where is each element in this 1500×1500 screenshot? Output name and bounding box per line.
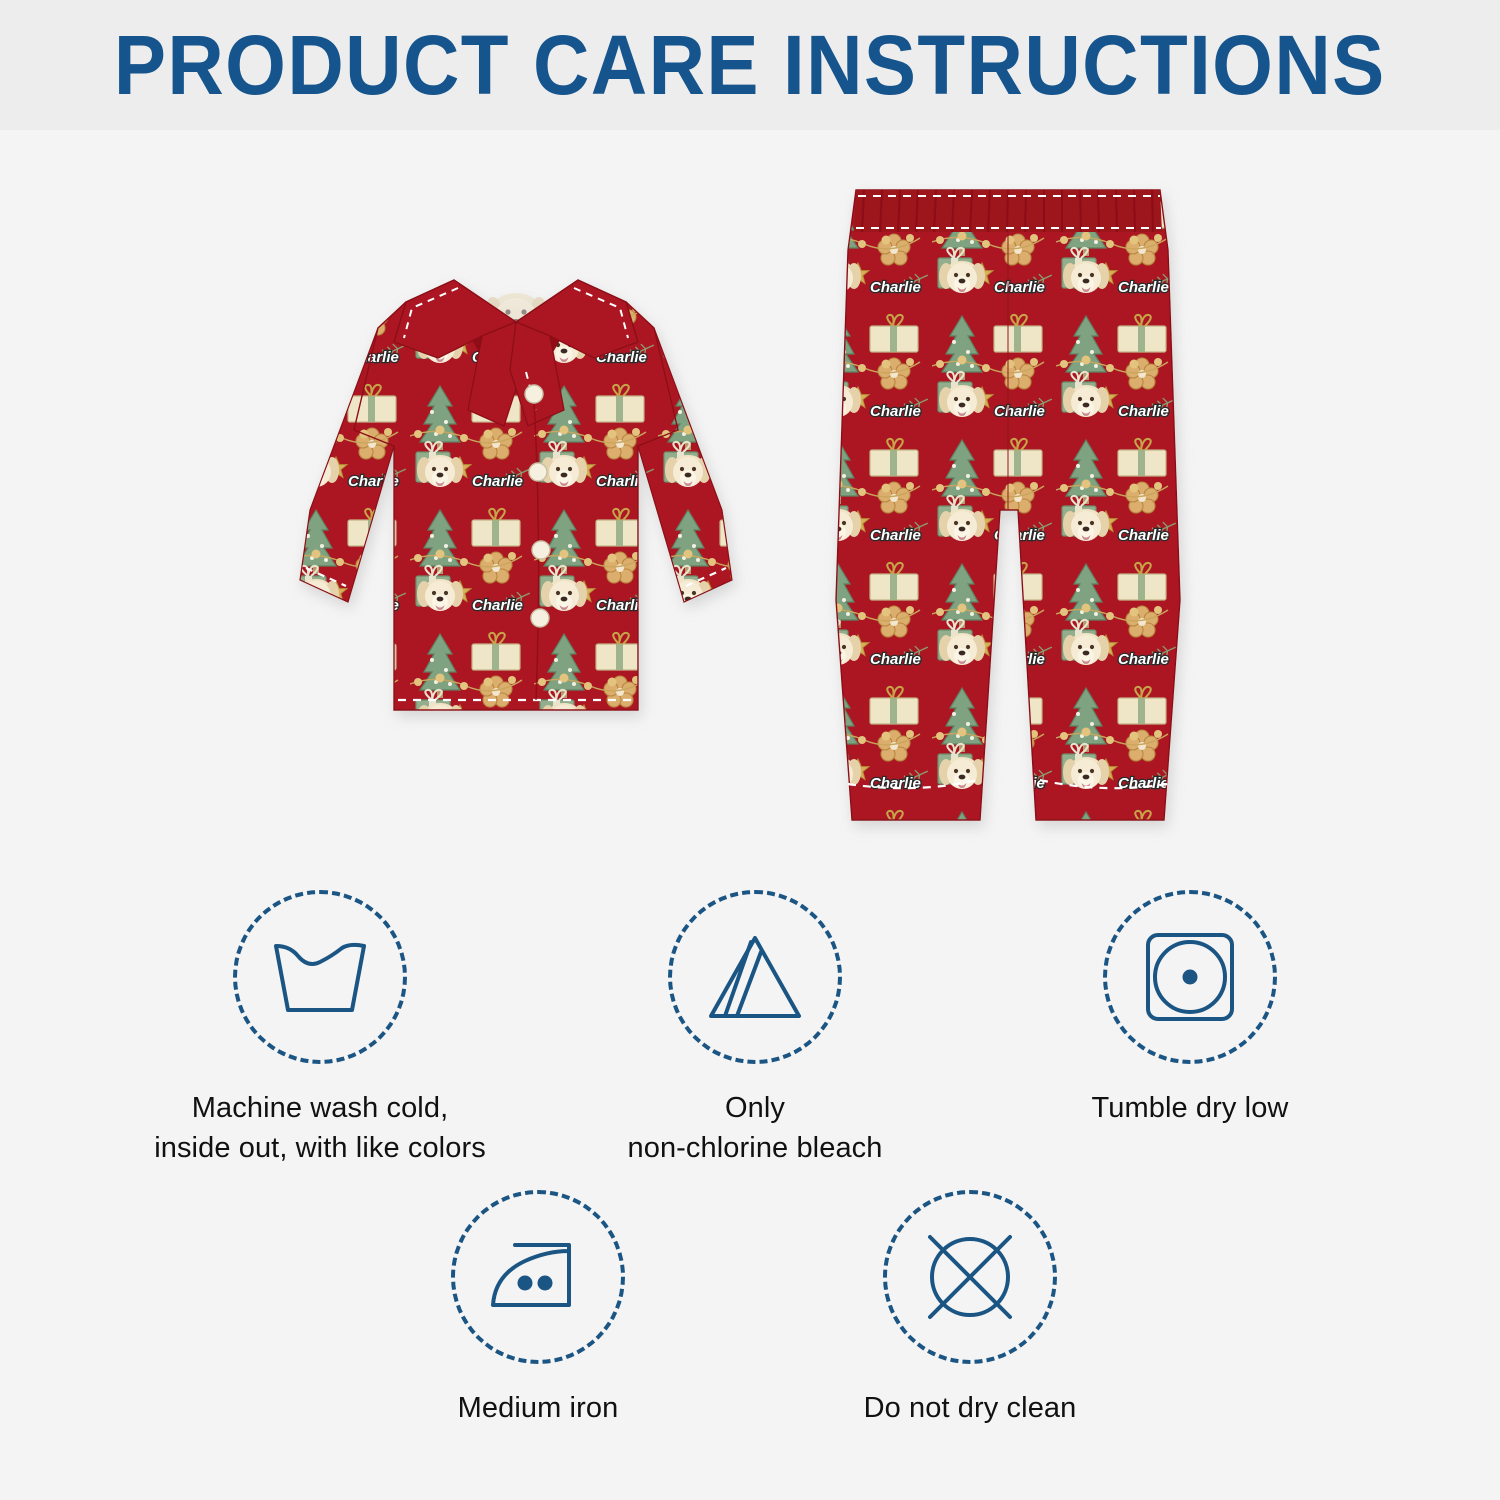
care-caption: Only non-chlorine bleach: [575, 1088, 935, 1168]
medium-iron-icon: [485, 1239, 591, 1315]
non-chlorine-bleach-circle: [668, 890, 842, 1064]
care-item-do-not-dry-clean: Do not dry clean: [790, 1190, 1150, 1428]
medium-iron-circle: [451, 1190, 625, 1364]
machine-wash-icon: [268, 932, 372, 1022]
care-caption: Tumble dry low: [1010, 1088, 1370, 1128]
do-not-dry-clean-circle: [883, 1190, 1057, 1364]
care-instructions-page: PRODUCT CARE INSTRUCTIONS: [0, 0, 1500, 1500]
care-item-medium-iron: Medium iron: [358, 1190, 718, 1428]
pajama-shirt: Charlie: [286, 250, 746, 780]
shirt-body: Charlie: [286, 250, 746, 780]
care-caption: Do not dry clean: [790, 1388, 1150, 1428]
tumble-dry-low-circle: [1103, 890, 1277, 1064]
care-item-tumble-dry-low: Tumble dry low: [1010, 890, 1370, 1128]
pants-waistband: [854, 190, 1162, 232]
page-title: PRODUCT CARE INSTRUCTIONS: [114, 23, 1386, 107]
care-caption: Machine wash cold, inside out, with like…: [140, 1088, 500, 1168]
pajama-pants: [808, 180, 1208, 840]
care-symbols-grid: Machine wash cold, inside out, with like…: [0, 890, 1500, 1500]
header-band: PRODUCT CARE INSTRUCTIONS: [0, 0, 1500, 130]
do-not-dry-clean-icon: [918, 1225, 1022, 1329]
care-item-machine-wash: Machine wash cold, inside out, with like…: [140, 890, 500, 1168]
machine-wash-circle: [233, 890, 407, 1064]
product-images: Charlie: [0, 130, 1500, 890]
tumble-dry-low-icon: [1142, 929, 1238, 1025]
care-item-non-chlorine-bleach: Only non-chlorine bleach: [575, 890, 935, 1168]
care-caption: Medium iron: [358, 1388, 718, 1428]
non-chlorine-bleach-icon: [703, 930, 807, 1024]
